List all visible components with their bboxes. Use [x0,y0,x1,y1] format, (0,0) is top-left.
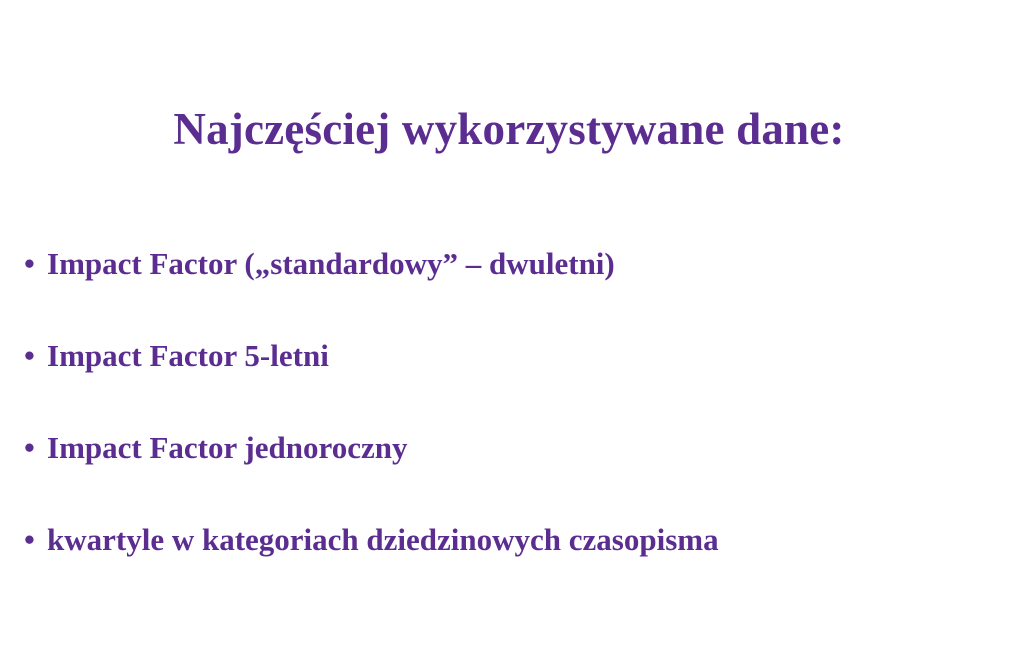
bullet-point-icon: • [24,245,47,283]
bullet-point-icon: • [24,521,47,559]
list-item-label: Impact Factor jednoroczny [47,429,407,467]
slide-title: Najczęściej wykorzystywane dane: [0,105,1018,155]
bullet-point-icon: • [24,337,47,375]
list-item: • kwartyle w kategoriach dziedzinowych c… [24,521,994,613]
bullet-point-icon: • [24,429,47,467]
list-item-label: kwartyle w kategoriach dziedzinowych cza… [47,521,719,559]
list-item-label: Impact Factor 5-letni [47,337,329,375]
presentation-slide: Najczęściej wykorzystywane dane: • Impac… [0,0,1018,655]
list-item: • Impact Factor 5-letni [24,337,994,429]
bullet-list: • Impact Factor („standardowy” – dwuletn… [24,245,994,613]
list-item-label: Impact Factor („standardowy” – dwuletni) [47,245,615,283]
list-item: • Impact Factor („standardowy” – dwuletn… [24,245,994,337]
list-item: • Impact Factor jednoroczny [24,429,994,521]
